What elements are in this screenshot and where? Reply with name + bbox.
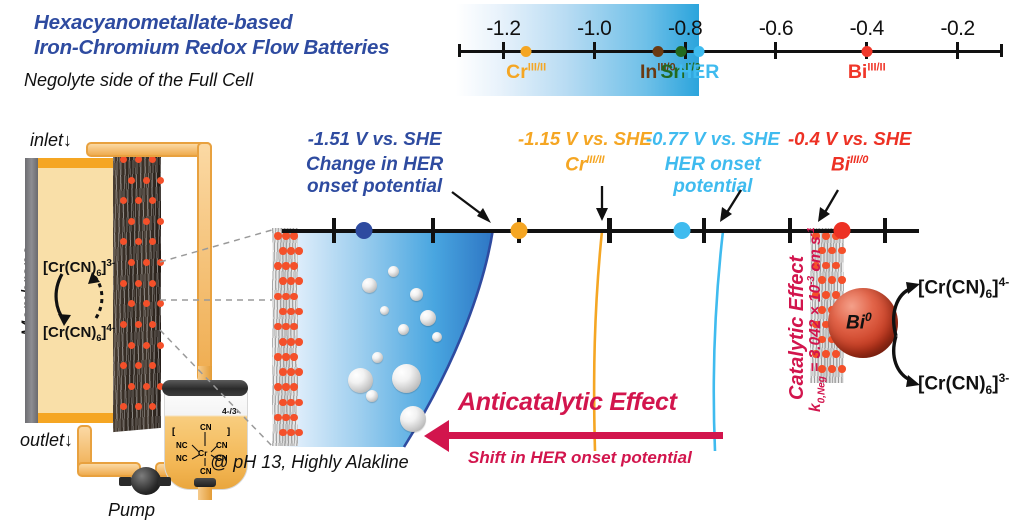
pump-label: Pump: [108, 500, 155, 521]
callout-lines: [0, 0, 1024, 500]
